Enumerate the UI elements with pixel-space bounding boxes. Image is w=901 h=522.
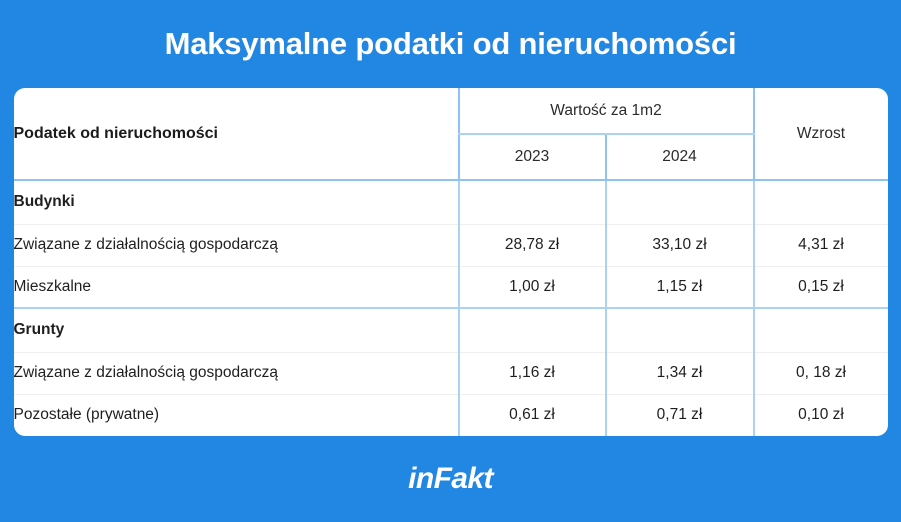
table-head: Podatek od nieruchomości Wartość za 1m2 …: [14, 88, 888, 180]
value-grunty-pozostale-growth: 0,10 zł: [754, 394, 888, 436]
table-row-group-budynki: Budynki: [14, 180, 888, 224]
group-budynki-growth: [754, 180, 888, 224]
column-header-2023: 2023: [459, 134, 606, 180]
infographic-root: Maksymalne podatki od nieruchomości Poda…: [0, 0, 901, 522]
table-row: Związane z działalnością gospodarczą 28,…: [14, 224, 888, 266]
value-budynki-mieszkalne-growth: 0,15 zł: [754, 266, 888, 308]
value-budynki-dzialalnosc-2024: 33,10 zł: [606, 224, 754, 266]
value-grunty-dzialalnosc-2023: 1,16 zł: [459, 352, 606, 394]
table-row: Związane z działalnością gospodarczą 1,1…: [14, 352, 888, 394]
row-label-budynki-mieszkalne: Mieszkalne: [14, 266, 459, 308]
row-label-budynki-dzialalnosc: Związane z działalnością gospodarczą: [14, 224, 459, 266]
column-header-growth: Wzrost: [754, 88, 888, 180]
column-header-value-per-sqm: Wartość za 1m2: [459, 88, 754, 134]
tax-table-card: Podatek od nieruchomości Wartość za 1m2 …: [14, 88, 888, 436]
group-budynki-2023: [459, 180, 606, 224]
value-grunty-dzialalnosc-growth: 0, 18 zł: [754, 352, 888, 394]
table-row: Pozostałe (prywatne) 0,61 zł 0,71 zł 0,1…: [14, 394, 888, 436]
page-title: Maksymalne podatki od nieruchomości: [165, 27, 737, 61]
group-grunty-2023: [459, 308, 606, 352]
value-grunty-dzialalnosc-2024: 1,34 zł: [606, 352, 754, 394]
row-label-grunty-pozostale: Pozostałe (prywatne): [14, 394, 459, 436]
value-budynki-dzialalnosc-2023: 28,78 zł: [459, 224, 606, 266]
table-row-group-grunty: Grunty: [14, 308, 888, 352]
footer: inFakt: [0, 436, 901, 522]
group-grunty-2024: [606, 308, 754, 352]
value-budynki-mieszkalne-2024: 1,15 zł: [606, 266, 754, 308]
column-header-tax-type: Podatek od nieruchomości: [14, 88, 459, 180]
group-label-budynki: Budynki: [14, 180, 459, 224]
infakt-logo: inFakt: [408, 462, 493, 496]
header-row-group: Podatek od nieruchomości Wartość za 1m2 …: [14, 88, 888, 134]
value-budynki-mieszkalne-2023: 1,00 zł: [459, 266, 606, 308]
table-row: Mieszkalne 1,00 zł 1,15 zł 0,15 zł: [14, 266, 888, 308]
tax-table: Podatek od nieruchomości Wartość za 1m2 …: [14, 88, 888, 436]
value-grunty-pozostale-2023: 0,61 zł: [459, 394, 606, 436]
value-grunty-pozostale-2024: 0,71 zł: [606, 394, 754, 436]
value-budynki-dzialalnosc-growth: 4,31 zł: [754, 224, 888, 266]
table-body: Budynki Związane z działalnością gospoda…: [14, 180, 888, 436]
row-label-grunty-dzialalnosc: Związane z działalnością gospodarczą: [14, 352, 459, 394]
column-header-2024: 2024: [606, 134, 754, 180]
group-budynki-2024: [606, 180, 754, 224]
group-label-grunty: Grunty: [14, 308, 459, 352]
title-bar: Maksymalne podatki od nieruchomości: [0, 0, 901, 88]
group-grunty-growth: [754, 308, 888, 352]
